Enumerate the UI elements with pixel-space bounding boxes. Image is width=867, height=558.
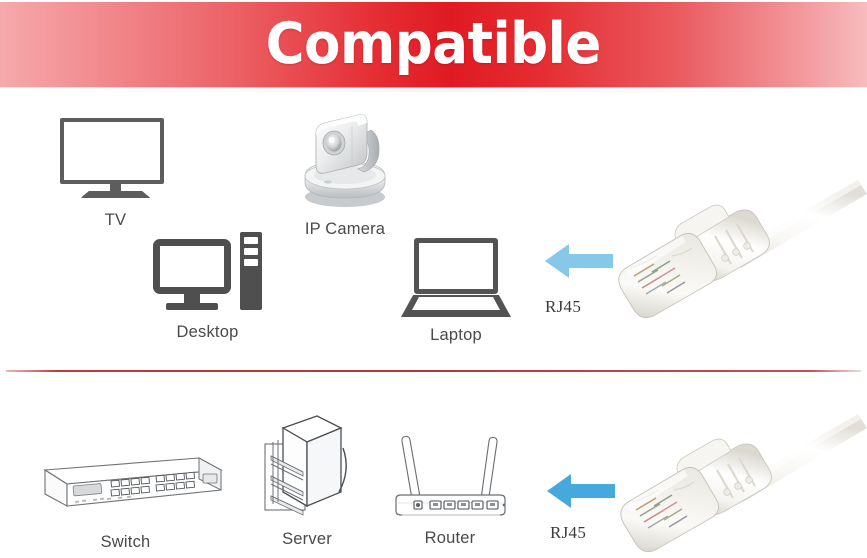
device-laptop: Laptop: [395, 238, 517, 345]
ip-camera-icon: [290, 112, 400, 212]
page-title: Compatible: [266, 16, 601, 73]
device-router: Router: [385, 425, 515, 548]
top-connector-label: RJ45: [545, 297, 581, 317]
header-banner: Compatible: [0, 2, 867, 88]
device-server-label: Server: [252, 530, 362, 549]
wireless-router-icon: [388, 425, 513, 523]
device-server: Server: [252, 412, 362, 549]
bottom-left-arrow-icon: [545, 470, 617, 517]
device-ip-camera-label: IP Camera: [285, 220, 405, 239]
laptop-icon: [401, 238, 511, 320]
device-switch-label: Switch: [18, 533, 233, 552]
television-icon: [60, 118, 172, 198]
device-ip-camera: IP Camera: [285, 112, 405, 239]
device-tv-label: TV: [48, 211, 183, 230]
device-router-label: Router: [385, 529, 515, 548]
network-switch-icon: [23, 448, 228, 520]
server-rack-icon: [257, 412, 357, 520]
infographic-canvas: Compatible TV: [0, 0, 867, 558]
bottom-rj45-patch-cable-icon: [612, 412, 867, 558]
top-rj45-patch-cable-icon: [612, 180, 867, 327]
bottom-connector-label: RJ45: [550, 523, 586, 543]
section-divider: [6, 370, 861, 372]
device-desktop-label: Desktop: [140, 323, 275, 342]
device-desktop: Desktop: [140, 232, 275, 342]
device-switch: Switch: [18, 448, 233, 552]
device-laptop-label: Laptop: [395, 326, 517, 345]
top-left-arrow-icon: [543, 240, 615, 287]
desktop-computer-icon: [140, 232, 275, 310]
device-tv: TV: [48, 118, 183, 230]
